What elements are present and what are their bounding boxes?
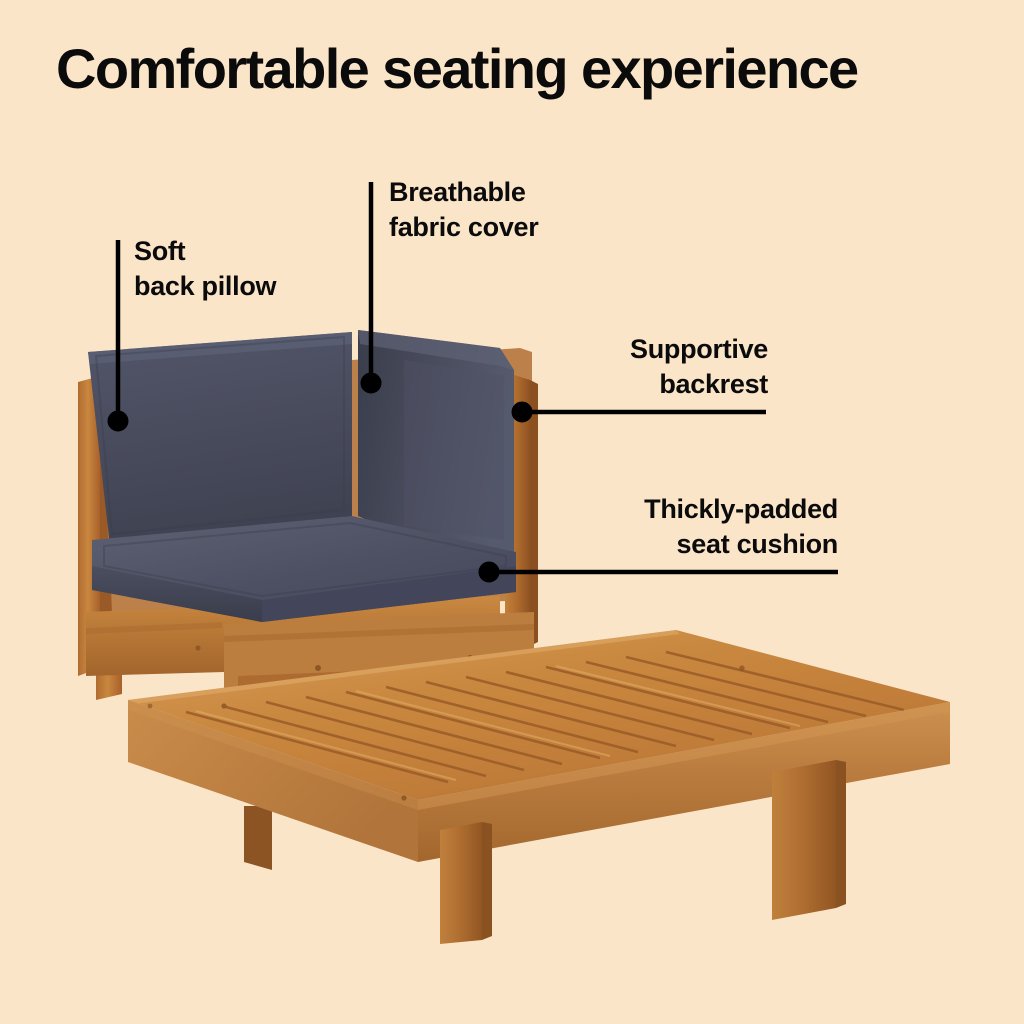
- back-pillow: [88, 332, 352, 546]
- callout-label-soft-back-pillow: Soft back pillow: [134, 234, 276, 303]
- table-front-leg-right: [772, 760, 836, 920]
- callout-label-supportive-backrest: Supportive backrest: [528, 332, 768, 401]
- dot-breathable-fabric-cover: [361, 373, 381, 393]
- dot-thickly-padded-seat-cushion: [479, 562, 499, 582]
- callout-label-thickly-padded-seat-cushion: Thickly-padded seat cushion: [538, 492, 838, 561]
- furniture-illustration: [0, 0, 1024, 1024]
- table-rear-leg: [244, 806, 272, 870]
- table-front-leg-left: [440, 822, 482, 944]
- side-pillow: [358, 330, 514, 556]
- dot-supportive-backrest: [512, 402, 532, 422]
- dot-soft-back-pillow: [108, 411, 128, 431]
- infographic-canvas: Comfortable seating experience: [0, 0, 1024, 1024]
- callout-label-breathable-fabric-cover: Breathable fabric cover: [389, 175, 538, 244]
- sofa-group: [78, 330, 538, 700]
